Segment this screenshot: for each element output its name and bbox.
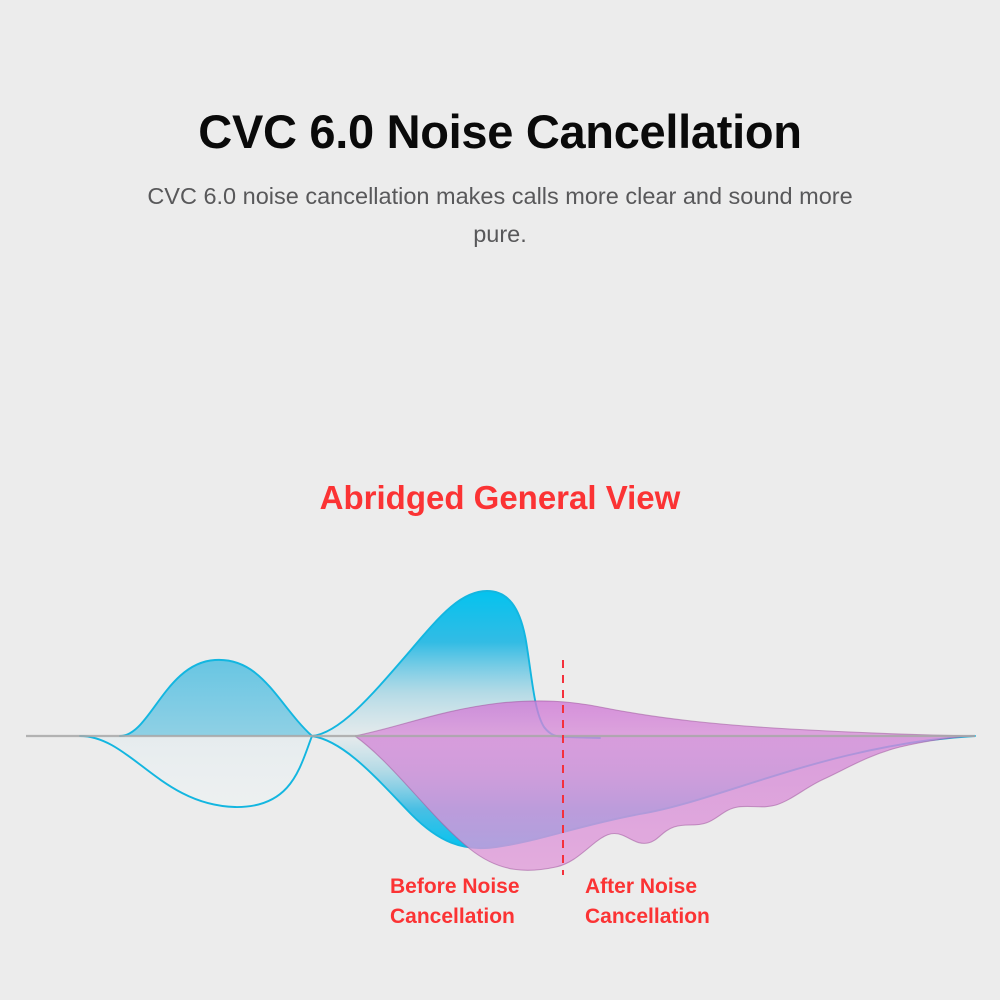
- noisy-wave-left-hump: [120, 660, 312, 736]
- section-heading: Abridged General View: [0, 480, 1000, 516]
- waveform-figure: [0, 555, 1000, 895]
- page-title: CVC 6.0 Noise Cancellation: [0, 0, 1000, 155]
- label-before-noise-cancellation: Before Noise Cancellation: [390, 872, 570, 933]
- header-block: CVC 6.0 Noise Cancellation CVC 6.0 noise…: [0, 0, 1000, 253]
- clean-wave-lower-lobe: [355, 736, 975, 870]
- promo-page: CVC 6.0 Noise Cancellation CVC 6.0 noise…: [0, 0, 1000, 1000]
- label-after-noise-cancellation: After Noise Cancellation: [585, 872, 765, 933]
- clean-wave-group: [355, 701, 975, 870]
- page-subtitle: CVC 6.0 noise cancellation makes calls m…: [140, 155, 860, 253]
- labels-block: Before Noise Cancellation After Noise Ca…: [0, 872, 1000, 972]
- waveform-svg: [0, 555, 1000, 895]
